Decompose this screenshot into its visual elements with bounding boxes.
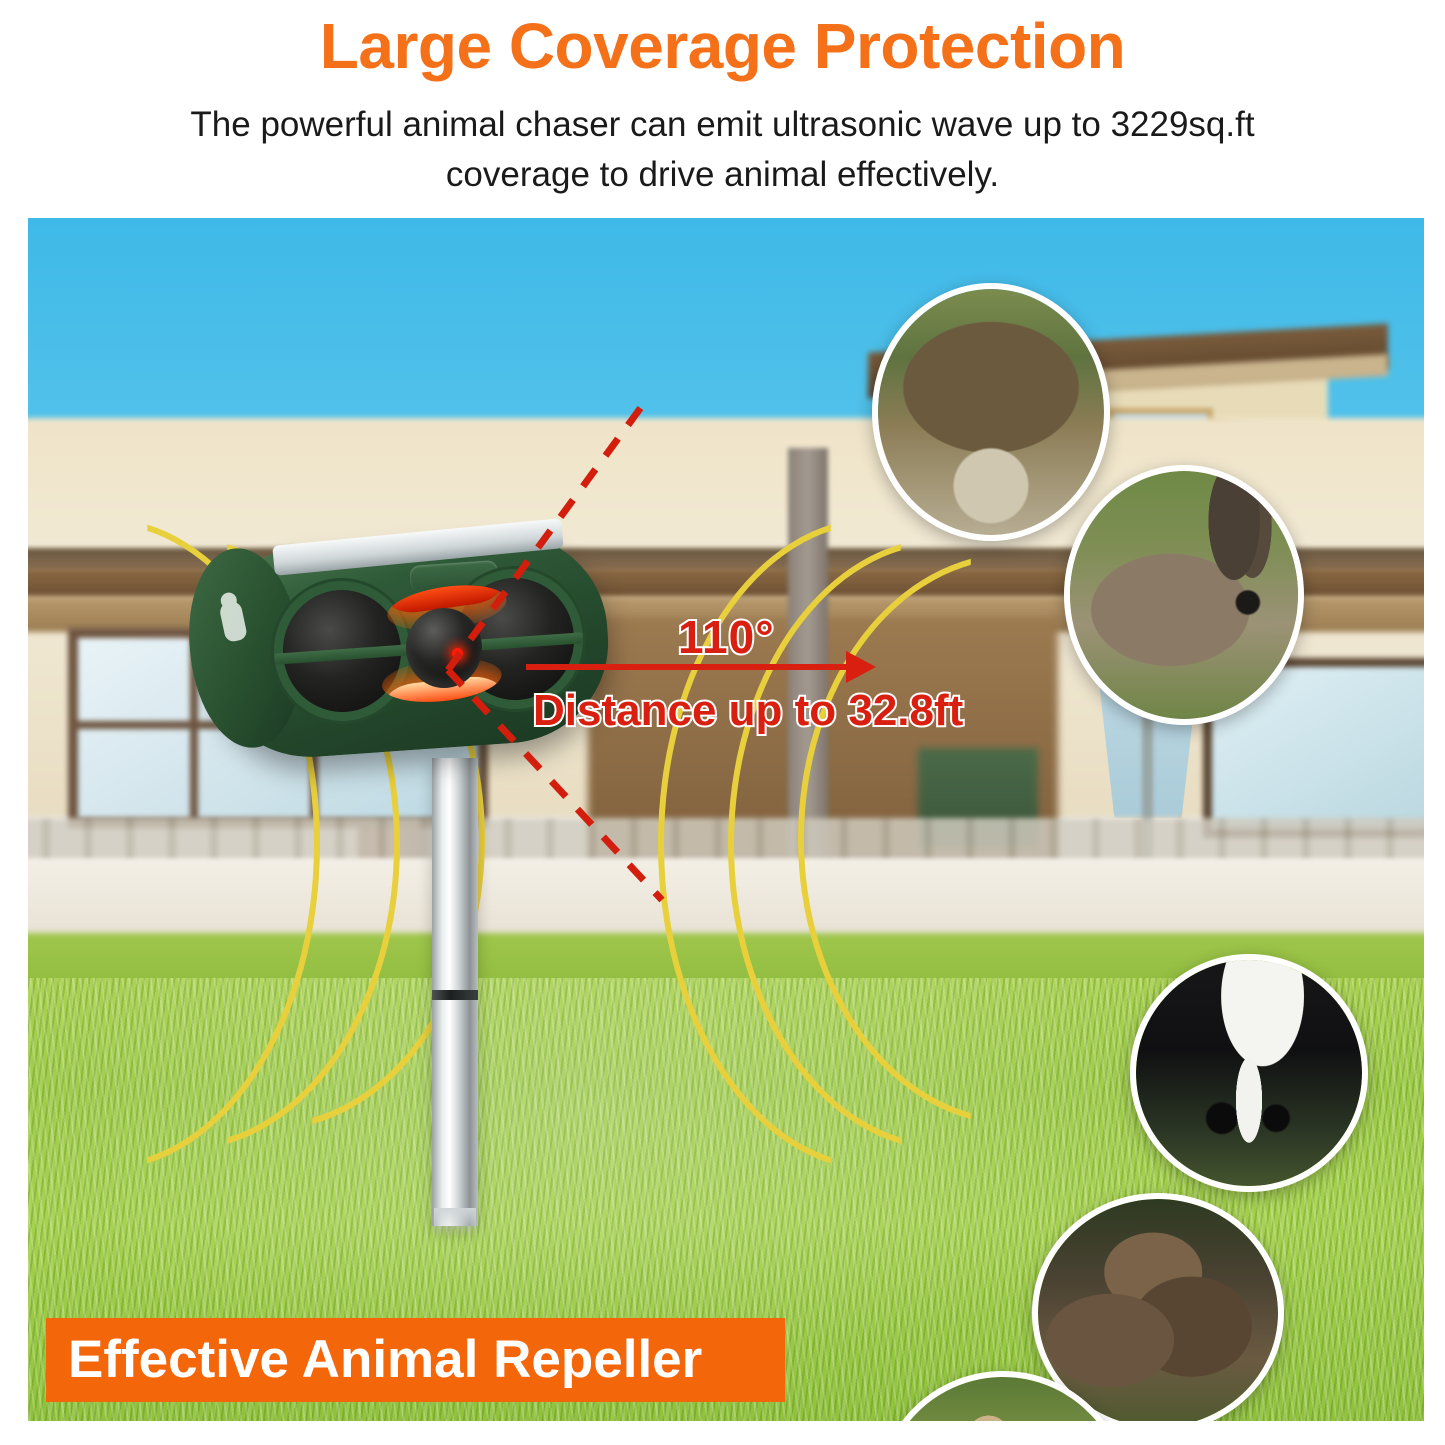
squirrel-photo bbox=[878, 289, 1104, 535]
subtitle-line-1: The powerful animal chaser can emit ultr… bbox=[40, 100, 1405, 150]
animal-circle-boar bbox=[1032, 1193, 1284, 1421]
distance-arrow-shaft bbox=[526, 664, 861, 670]
pir-indicator-icon bbox=[452, 648, 463, 659]
animal-circle-skunk bbox=[1130, 954, 1368, 1192]
keyhole-mount-icon bbox=[218, 599, 248, 643]
subtitle-line-2: coverage to drive animal effectively. bbox=[40, 150, 1405, 200]
bottom-banner: Effective Animal Repeller bbox=[46, 1318, 785, 1402]
header: Large Coverage Protection The powerful a… bbox=[0, 0, 1445, 218]
skunk-photo bbox=[1136, 960, 1362, 1186]
ground-stake-tip bbox=[434, 1208, 476, 1236]
coverage-angle-label: 110° bbox=[678, 610, 775, 664]
page-title: Large Coverage Protection bbox=[0, 8, 1445, 84]
ground-stake-joint bbox=[432, 990, 478, 1000]
distance-arrow-head-icon bbox=[846, 651, 876, 683]
boar-photo bbox=[1038, 1199, 1278, 1421]
animal-circle-rabbit bbox=[1064, 465, 1304, 725]
animal-circle-squirrel bbox=[872, 283, 1110, 541]
animal-repeller-device bbox=[188, 518, 618, 778]
page-subtitle: The powerful animal chaser can emit ultr… bbox=[40, 100, 1405, 200]
rabbit-photo bbox=[1070, 471, 1298, 719]
product-scene-photo: 110° Distance up to 32.8ft Effective Ani… bbox=[28, 218, 1424, 1421]
coverage-distance-label: Distance up to 32.8ft bbox=[533, 686, 963, 736]
pir-sensor-dome bbox=[406, 608, 482, 688]
bottom-banner-label: Effective Animal Repeller bbox=[46, 1318, 702, 1402]
product-feature-page: Large Coverage Protection The powerful a… bbox=[0, 0, 1445, 1445]
